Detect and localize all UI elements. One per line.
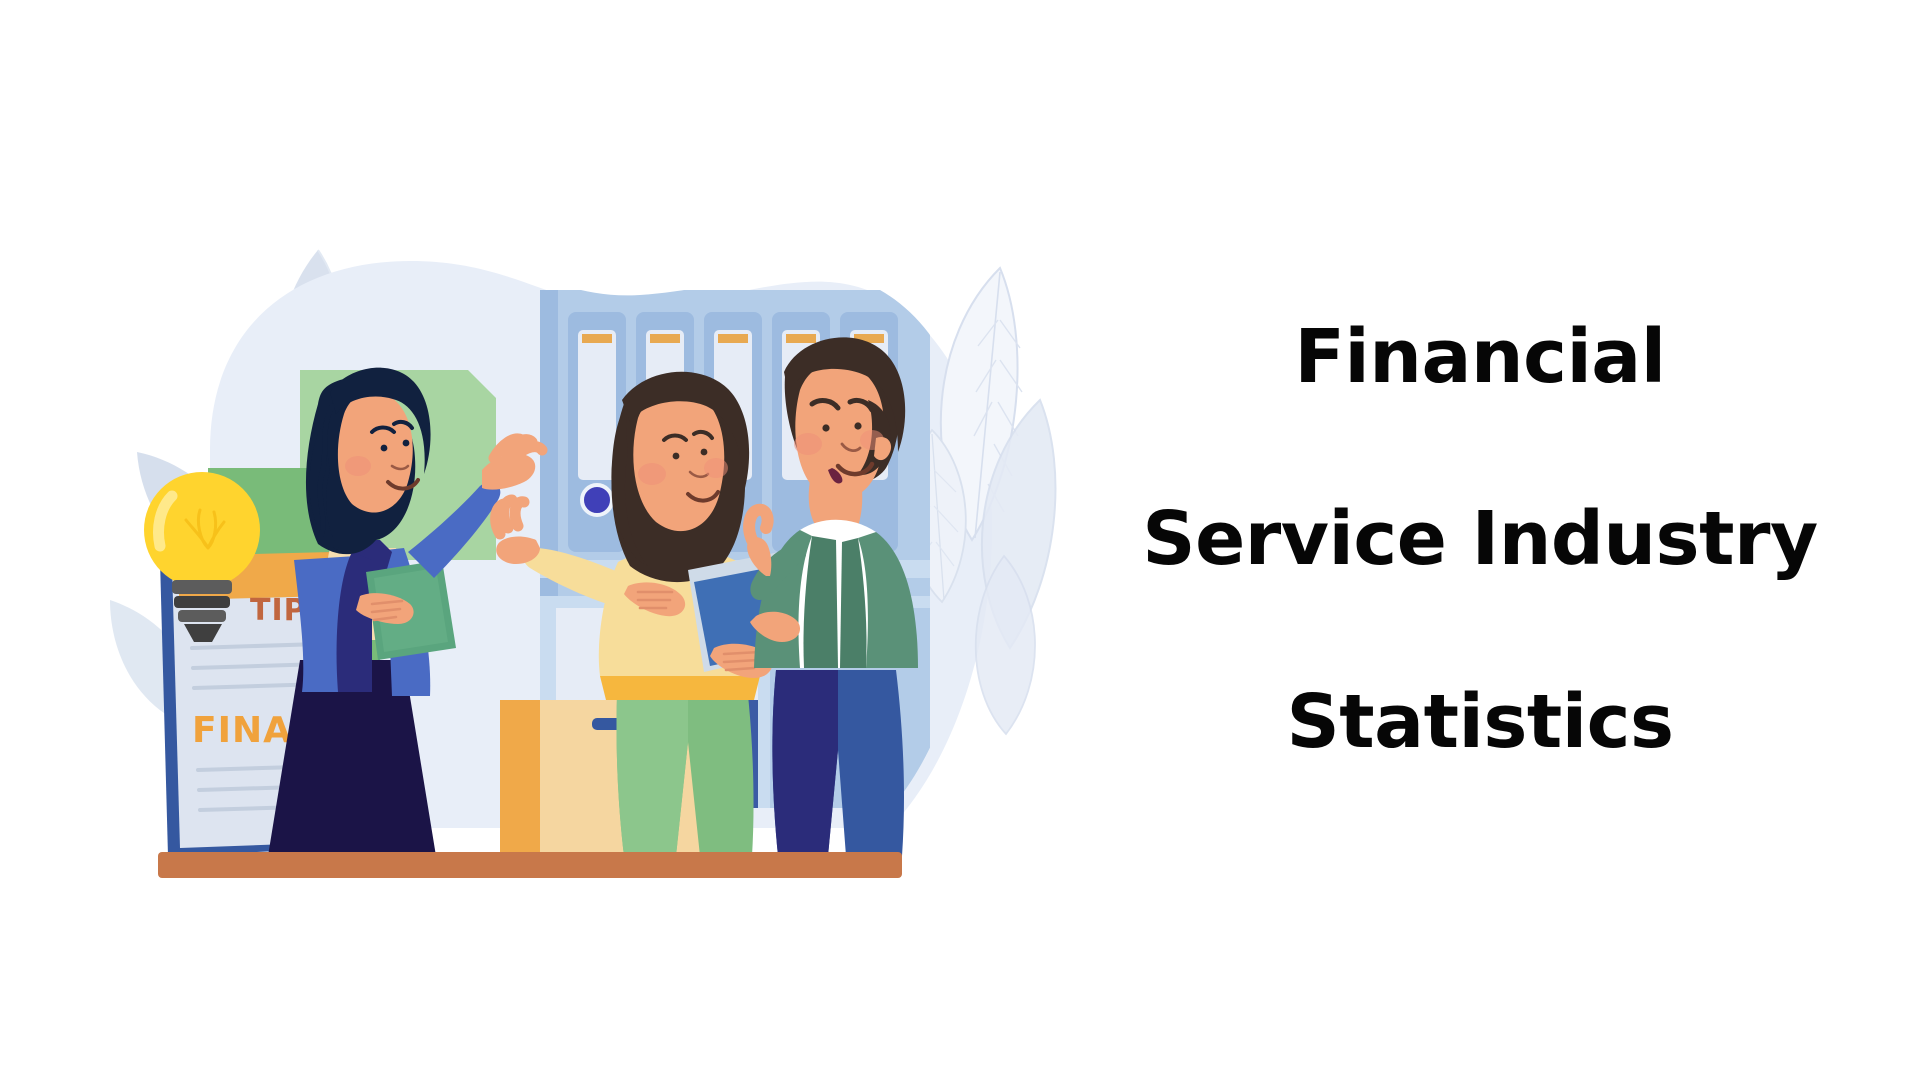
page-title-line-2: Service Industry — [1142, 494, 1817, 585]
header-banner: TIPS FINANCE — [0, 0, 1920, 1080]
page-title-line-1: Financial — [1142, 312, 1817, 403]
financial-consultants-office-illustration: TIPS FINANCE — [0, 0, 1080, 1080]
desk-surface — [158, 852, 902, 878]
title-panel: Financial Service Industry Statistics — [1080, 0, 1920, 1080]
illustration-panel: TIPS FINANCE — [0, 0, 1080, 1080]
page-title: Financial Service Industry Statistics — [1142, 221, 1817, 858]
page-title-line-3: Statistics — [1142, 677, 1817, 768]
